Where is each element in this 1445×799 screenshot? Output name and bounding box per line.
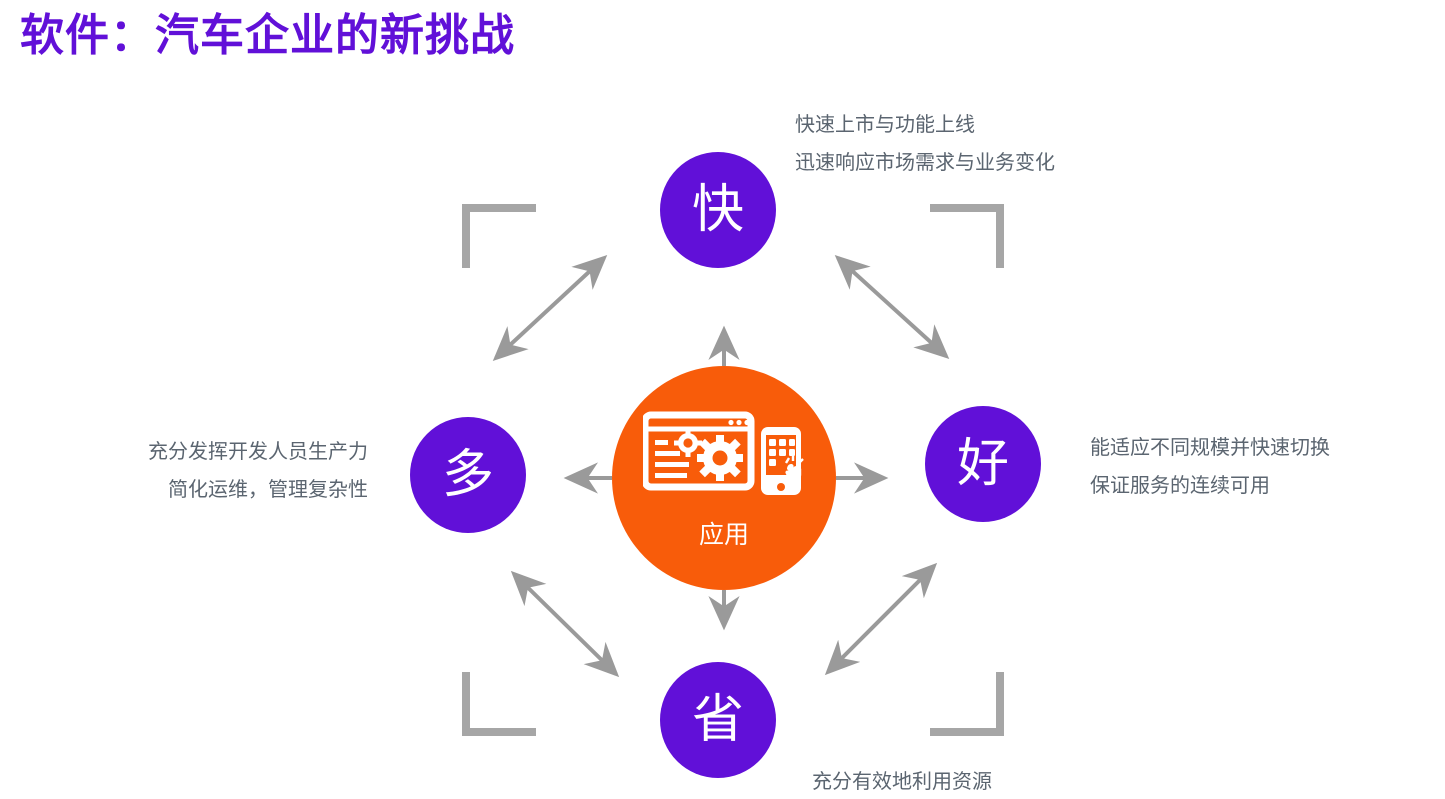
caption-right-line1: 能适应不同规模并快速切换 <box>1090 428 1330 466</box>
caption-bottom: 充分有效地利用资源 <box>812 762 992 799</box>
concept-diagram: 应用 快 好 省 多 快速上市与功能上线 迅速响应市场需求与业务变化 能适应不同… <box>0 0 1445 799</box>
arrow-diagonal-top-right <box>838 258 946 356</box>
node-many-label: 多 <box>442 449 494 501</box>
bracket-top-left <box>466 208 536 268</box>
bracket-bottom-right <box>930 672 1000 732</box>
arrow-diagonal-bottom-right <box>828 566 934 672</box>
center-node-label: 应用 <box>699 515 749 551</box>
bracket-top-right <box>930 208 1000 268</box>
node-good-label: 好 <box>957 438 1009 490</box>
node-save[interactable]: 省 <box>660 662 776 778</box>
bracket-bottom-left <box>466 672 536 732</box>
app-window-gear-mobile-icon <box>643 411 805 497</box>
caption-right: 能适应不同规模并快速切换 保证服务的连续可用 <box>1090 428 1330 504</box>
node-fast[interactable]: 快 <box>660 152 776 268</box>
node-save-label: 省 <box>692 694 744 746</box>
caption-bottom-line1: 充分有效地利用资源 <box>812 762 992 799</box>
arrow-diagonal-bottom-left <box>514 574 616 674</box>
caption-top-line1: 快速上市与功能上线 <box>795 105 1055 143</box>
caption-left: 充分发挥开发人员生产力 简化运维，管理复杂性 <box>130 432 368 508</box>
caption-right-line2: 保证服务的连续可用 <box>1090 466 1330 504</box>
caption-left-line2: 简化运维，管理复杂性 <box>130 470 368 508</box>
caption-left-line1: 充分发挥开发人员生产力 <box>130 432 368 470</box>
caption-top: 快速上市与功能上线 迅速响应市场需求与业务变化 <box>795 105 1055 181</box>
node-many[interactable]: 多 <box>410 417 526 533</box>
slide-canvas: 软件：汽车企业的新挑战 <box>0 0 1445 799</box>
node-fast-label: 快 <box>692 184 744 236</box>
caption-top-line2: 迅速响应市场需求与业务变化 <box>795 143 1055 181</box>
node-good[interactable]: 好 <box>925 406 1041 522</box>
arrow-diagonal-top-left <box>496 258 604 358</box>
center-node-app[interactable]: 应用 <box>612 366 836 590</box>
